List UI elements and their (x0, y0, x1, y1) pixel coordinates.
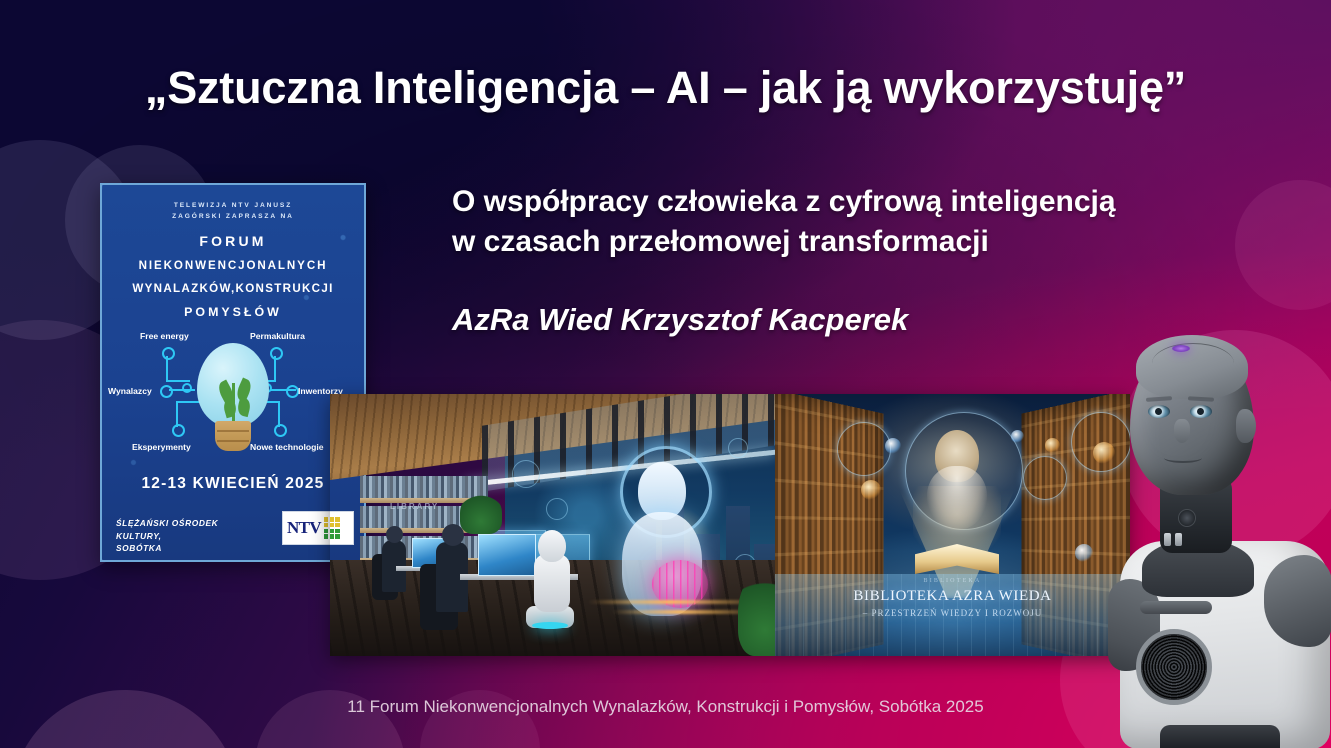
diagram-node (270, 347, 283, 360)
hud-circle (728, 438, 748, 458)
robot-neck-joint (1178, 509, 1196, 527)
photo-mystical-library: BIBLIOTEKA BIBLIOTEKA AZRA WIEDA – PRZES… (775, 394, 1130, 656)
poster-label-free-energy: Free energy (140, 331, 189, 341)
poster-title-line-1: FORUM (102, 233, 364, 249)
slide-footer: 11 Forum Niekonwencjonalnych Wynalazków,… (0, 697, 1331, 717)
hud-circle (512, 460, 540, 488)
diagram-node (274, 424, 287, 437)
ntv-cell (324, 534, 328, 538)
robot-neck-pin (1175, 533, 1182, 546)
robot-chest-speaker (1136, 629, 1212, 705)
event-poster: TELEWIZJA NTV JANUSZ ZAGÓRSKI ZAPRASZA N… (100, 183, 366, 562)
robot-head-led (1172, 345, 1190, 352)
robot-base-glow (532, 622, 568, 629)
desk-robot-body (534, 554, 570, 612)
ntv-cell (324, 523, 328, 527)
poster-kicker-line-2: ZAGÓRSKI ZAPRASZA NA (102, 212, 364, 223)
glowing-orb (1075, 544, 1093, 562)
sacred-geometry-glyph (1023, 456, 1067, 500)
diagram-wire (166, 380, 190, 382)
robot-ear (1236, 409, 1256, 443)
robot-neck-pin (1164, 533, 1171, 546)
poster-label-permakultura: Permakultura (250, 331, 305, 341)
indoor-plant (460, 492, 502, 534)
slide-subtitle: O współpracy człowieka z cyfrową intelig… (452, 182, 1292, 261)
poster-label-nowe-technologie: Nowe technologie (250, 442, 324, 452)
poster-title-line-3: WYNALAZKÓW,KONSTRUKCJI (102, 282, 364, 295)
poster-venue-line-2: SOBÓTKA (116, 542, 266, 555)
diagram-node (172, 424, 185, 437)
presenter-name: AzRa Wied Krzysztof Kacperek (452, 302, 908, 338)
subtitle-line-1: O współpracy człowieka z cyfrową intelig… (452, 182, 1292, 222)
humanoid-robot-bust (1112, 333, 1331, 748)
presentation-slide: „Sztuczna Inteligencja – AI – jak ją wyk… (0, 0, 1331, 748)
person-head (386, 526, 403, 543)
poster-kicker: TELEWIZJA NTV JANUSZ ZAGÓRSKI ZAPRASZA N… (102, 201, 364, 223)
robot-chest-plate (1140, 601, 1212, 614)
sacred-geometry-glyph (837, 422, 891, 476)
slide-title: „Sztuczna Inteligencja – AI – jak ją wyk… (0, 62, 1331, 114)
robot-pupil-left (1155, 408, 1162, 415)
photo-caption-title: BIBLIOTEKA AZRA WIEDA (775, 588, 1130, 605)
glowing-orb-amber (1045, 438, 1060, 453)
diagram-node-small (182, 383, 192, 393)
poster-kicker-line-1: TELEWIZJA NTV JANUSZ (102, 201, 364, 212)
photo-caption-subtitle: – PRZESTRZEŃ WIEDZY I ROZWOJU (775, 608, 1130, 618)
poster-venue: ŚLĘŻAŃSKI OŚRODEK KULTURY, SOBÓTKA (116, 517, 266, 555)
library-sign-text: LIBRARY (390, 502, 439, 511)
robot-mount-base (1160, 725, 1280, 748)
subtitle-line-2: w czasach przełomowej transformacji (452, 222, 1292, 262)
poster-title-line-2: NIEKONWENCJONALNYCH (102, 259, 364, 272)
photo-caption-kicker: BIBLIOTEKA (775, 578, 1130, 584)
computer-monitor (478, 534, 536, 576)
hud-circle (546, 498, 568, 520)
image-strip: LIBRARY (330, 394, 1130, 656)
poster-venue-line-1: ŚLĘŻAŃSKI OŚRODEK KULTURY, (116, 517, 266, 542)
glowing-orb (1011, 430, 1024, 443)
poster-event-date: 12-13 KWIECIEŃ 2025 (102, 475, 364, 493)
desk-robot-head (538, 530, 566, 562)
poster-content: TELEWIZJA NTV JANUSZ ZAGÓRSKI ZAPRASZA N… (102, 185, 364, 560)
poster-title-line-4: POMYSŁÓW (102, 305, 364, 319)
poster-lightbulb-diagram: Free energy Permakultura Wynalazcy Inwen… (102, 325, 364, 470)
diagram-node (160, 385, 173, 398)
lightbulb-base-icon (215, 421, 251, 451)
photo-futuristic-office: LIBRARY (330, 394, 775, 656)
glowing-orb (885, 438, 901, 454)
ntv-cell (324, 529, 328, 533)
poster-label-wynalazcy: Wynalazcy (108, 386, 152, 396)
robot-mouth (1164, 453, 1202, 463)
robot-pupil-right (1197, 408, 1204, 415)
diagram-node (162, 347, 175, 360)
robot-nose (1174, 419, 1190, 443)
ntv-logo-text: NTV (287, 518, 321, 538)
ntv-cell (324, 517, 328, 521)
robot-skullcap-seam (1152, 343, 1234, 384)
poster-label-eksperymenty: Eksperymenty (132, 442, 191, 452)
glowing-orb-amber (861, 480, 881, 500)
